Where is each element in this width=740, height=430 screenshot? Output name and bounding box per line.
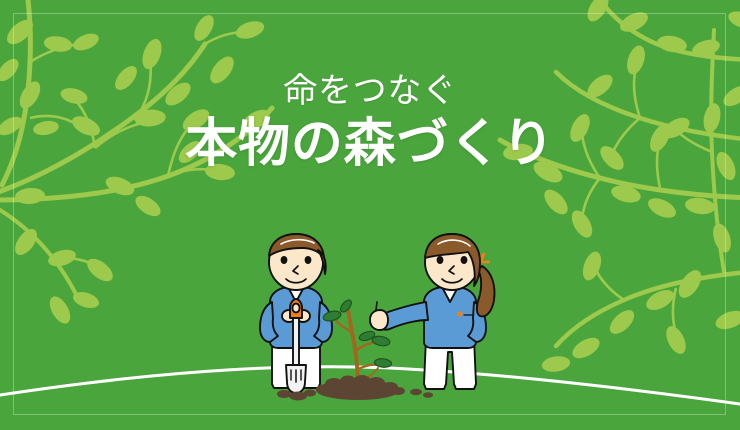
- planting-illustration: [248, 232, 500, 412]
- forest-campaign-banner: 命をつなぐ 本物の森づくり: [0, 0, 740, 430]
- headline-subtitle: 命をつなぐ: [0, 72, 740, 110]
- headline-title: 本物の森づくり: [0, 114, 740, 174]
- headline-block: 命をつなぐ 本物の森づくり: [0, 72, 740, 174]
- soil-mound: [316, 375, 405, 400]
